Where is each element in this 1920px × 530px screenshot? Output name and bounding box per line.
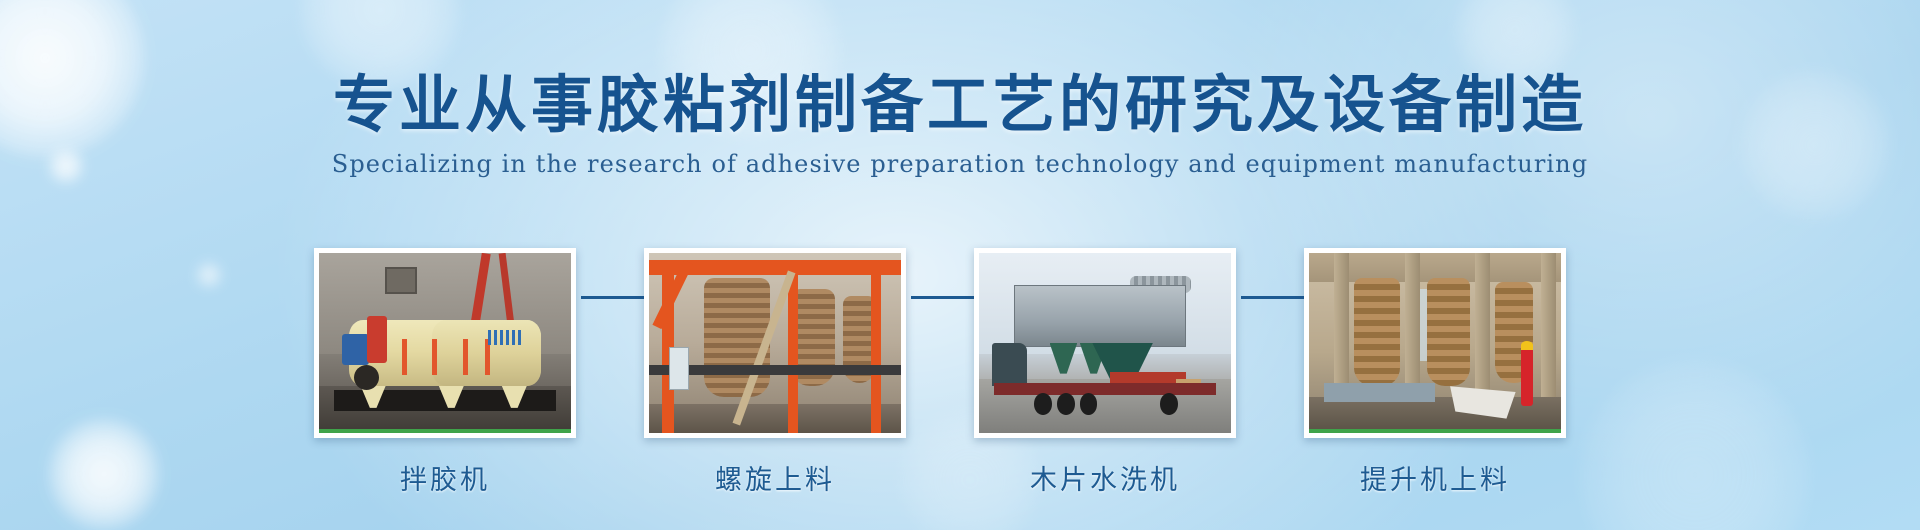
flow-connector-line	[911, 296, 977, 299]
photo-frame[interactable]	[1304, 248, 1566, 438]
flow-step-glue-mixer[interactable]: 拌胶机	[314, 248, 576, 497]
flow-step-elevator-feeding[interactable]: 提升机上料	[1304, 248, 1566, 497]
flow-step-screw-conveyor[interactable]: 螺旋上料	[644, 248, 906, 497]
photo-frame[interactable]	[314, 248, 576, 438]
flow-step-caption: 提升机上料	[1304, 458, 1566, 497]
banner-subtitle: Specializing in the research of adhesive…	[0, 150, 1920, 178]
photo-frame[interactable]	[644, 248, 906, 438]
flow-step-caption: 木片水洗机	[974, 458, 1236, 497]
photo-frame[interactable]	[974, 248, 1236, 438]
elevator-feeding-photo	[1309, 253, 1561, 433]
wood-chip-washer-photo	[979, 253, 1231, 433]
promo-banner: 专业从事胶粘剂制备工艺的研究及设备制造 Specializing in the …	[0, 0, 1920, 530]
glue-mixer-photo	[319, 253, 571, 433]
process-flow: 拌胶机 螺旋上料	[0, 248, 1920, 448]
flow-connector-line	[1241, 296, 1307, 299]
screw-conveyor-photo	[649, 253, 901, 433]
flow-step-caption: 螺旋上料	[644, 458, 906, 497]
flow-step-caption: 拌胶机	[314, 458, 576, 497]
flow-step-wood-chip-washer[interactable]: 木片水洗机	[974, 248, 1236, 497]
banner-headline: 专业从事胶粘剂制备工艺的研究及设备制造	[0, 54, 1920, 144]
flow-connector-line	[581, 296, 647, 299]
